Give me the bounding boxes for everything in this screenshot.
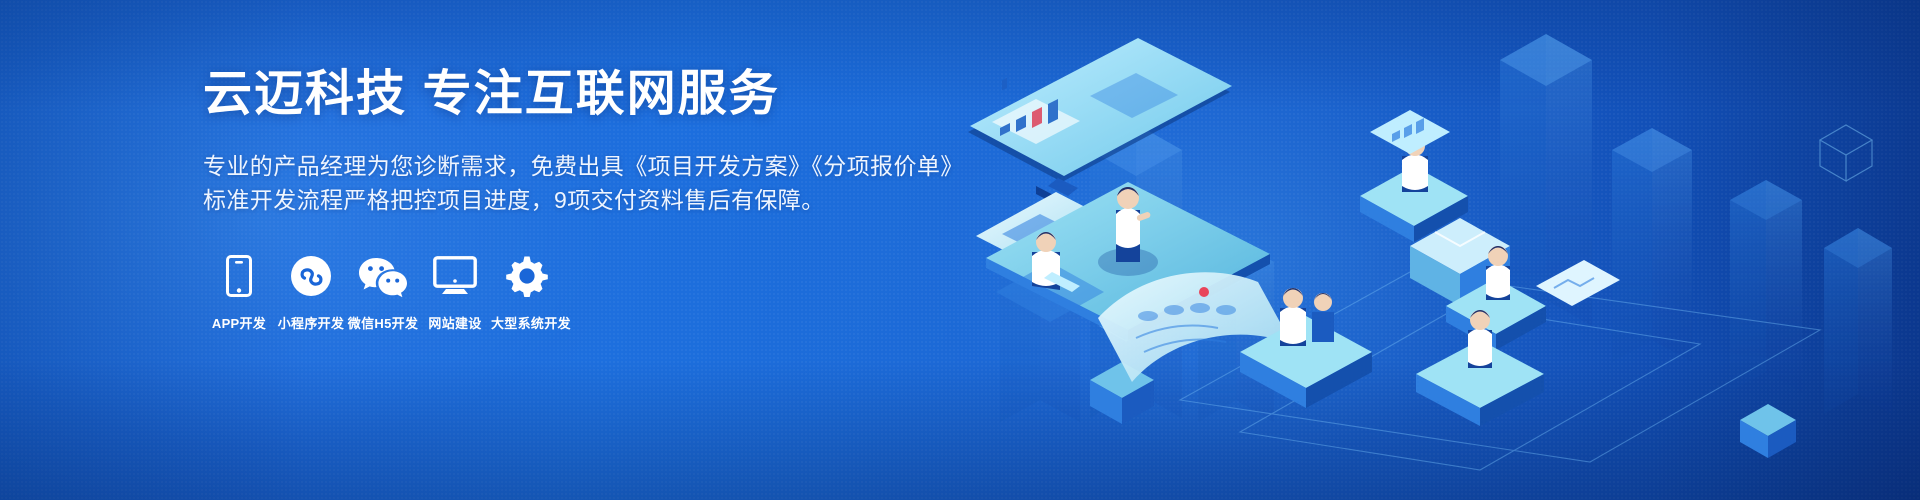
person-standing-main: [1098, 187, 1158, 276]
mobile-phone-icon: [203, 253, 275, 299]
wechat-icon: [347, 253, 419, 299]
banner-subtitle-line-1: 专业的产品经理为您诊断需求，免费出具《项目开发方案》《分项报价单》: [203, 149, 923, 183]
background-skyline: [1000, 34, 1892, 422]
wireframe-cubes: [1100, 125, 1872, 341]
service-label-app: APP开发: [203, 313, 275, 332]
person-walking-right: [1446, 246, 1546, 350]
monitor-icon: [419, 253, 491, 299]
accent-cube-left: [1090, 362, 1154, 424]
dashboard-monitor: [968, 38, 1232, 222]
isometric-illustration: [940, 0, 1920, 500]
service-label-website: 网站建设: [419, 313, 491, 332]
service-item-wechat-h5[interactable]: 微信H5开发: [347, 253, 419, 332]
paper-sheet-left: [976, 192, 1126, 272]
hero-banner: 云迈科技 专注互联网服务 专业的产品经理为您诊断需求，免费出具《项目开发方案》《…: [0, 0, 1920, 500]
main-platform: [986, 182, 1270, 340]
gear-icon: [491, 253, 563, 299]
service-item-mini-program[interactable]: 小程序开发: [275, 253, 347, 332]
service-item-app[interactable]: APP开发: [203, 253, 275, 332]
service-item-large-system[interactable]: 大型系统开发: [491, 253, 563, 332]
banner-headline: 云迈科技 专注互联网服务: [203, 68, 923, 121]
person-seated-laptop: [996, 232, 1104, 322]
banner-subtitle-line-2: 标准开发流程严格把控项目进度，9项交付资料售后有保障。: [203, 183, 923, 217]
person-platform-right-upper: [1360, 136, 1468, 242]
service-label-mini-program: 小程序开发: [275, 313, 347, 332]
service-item-website[interactable]: 网站建设: [419, 253, 491, 332]
person-bottom-right: [1416, 310, 1544, 426]
service-label-large-system: 大型系统开发: [491, 313, 563, 332]
mini-program-icon: [275, 253, 347, 299]
service-label-wechat-h5: 微信H5开发: [347, 313, 419, 332]
floating-tablet-right: [1536, 260, 1620, 306]
floating-chart-card: [1370, 110, 1450, 154]
ground-grid: [1180, 272, 1820, 470]
person-group-bottom-left: [1240, 288, 1372, 408]
accent-cube-right: [1740, 404, 1796, 458]
service-list: APP开发 小程序开发: [203, 253, 923, 332]
box-stack-right: [1410, 218, 1510, 306]
data-flow-panel: [1098, 272, 1292, 382]
banner-content: 云迈科技 专注互联网服务 专业的产品经理为您诊断需求，免费出具《项目开发方案》《…: [203, 68, 923, 332]
